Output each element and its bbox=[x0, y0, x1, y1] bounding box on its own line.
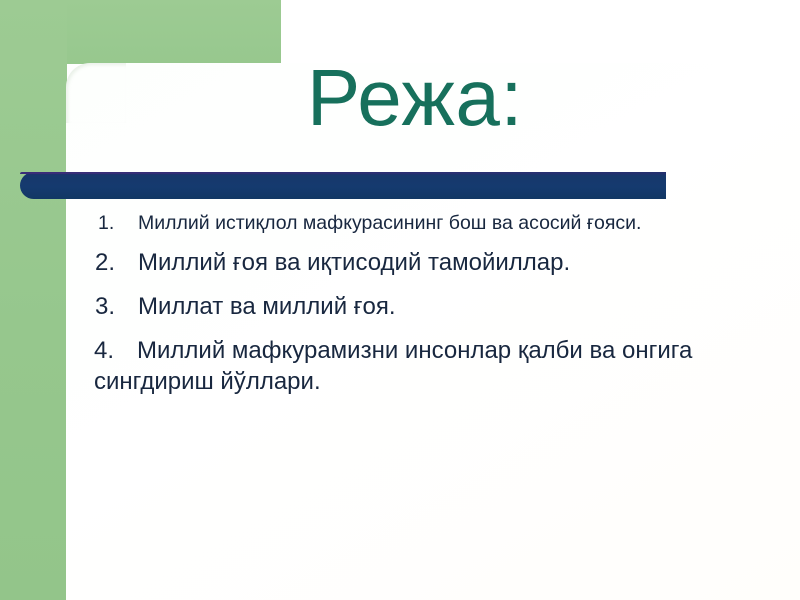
agenda-list: 1.Миллий истиқлол мафкурасининг бош ва а… bbox=[76, 210, 736, 410]
list-item-text: Миллий истиқлол мафкурасининг бош ва асо… bbox=[138, 212, 641, 234]
list-item: 3.Миллат ва миллий ғоя. bbox=[76, 291, 755, 322]
list-item-number: 2. bbox=[95, 247, 138, 278]
slide-title: Режа: bbox=[180, 56, 650, 140]
list-item-text: Миллий ғоя ва иқтисодий тамойиллар. bbox=[138, 249, 570, 276]
list-item-number: 3. bbox=[95, 291, 138, 322]
list-item: 1.Миллий истиқлол мафкурасининг бош ва а… bbox=[76, 210, 698, 236]
list-item: 2.Миллий ғоя ва иқтисодий тамойиллар. bbox=[76, 247, 755, 278]
list-item-number: 1. bbox=[98, 210, 138, 236]
green-side-strip bbox=[0, 0, 67, 600]
list-item-text: Миллат ва миллий ғоя. bbox=[138, 293, 396, 320]
list-item: 4.Миллий мафкурамизни инсонлар қалби ва … bbox=[76, 335, 766, 397]
presentation-slide: Режа: 1.Миллий истиқлол мафкурасининг бо… bbox=[0, 0, 800, 600]
list-item-number: 4. bbox=[94, 335, 137, 366]
title-divider-bar bbox=[20, 172, 666, 199]
list-item-text: Миллий мафкурамизни инсонлар қалби ва он… bbox=[94, 337, 692, 395]
